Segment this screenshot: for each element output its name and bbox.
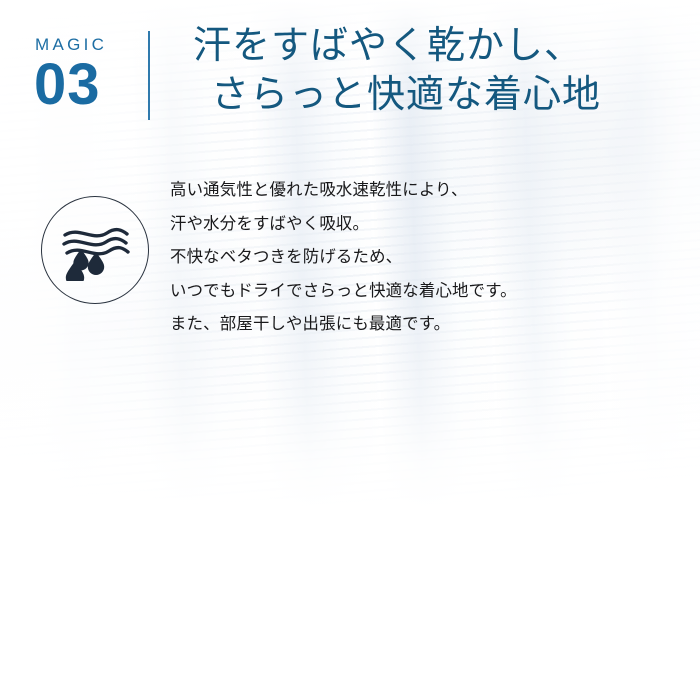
quick-dry-icon bbox=[41, 196, 149, 304]
body-03-line-4: いつでもドライでさらっと快適な着心地です。 bbox=[170, 275, 517, 309]
headline-03-line-2: さらっと快適な着心地 bbox=[193, 71, 601, 120]
body-03-line-1: 高い通気性と優れた吸水速乾性により、 bbox=[170, 174, 517, 208]
body-03-line-2: 汗や水分をすばやく吸収。 bbox=[170, 208, 517, 242]
magic-label-03: MAGIC 03 bbox=[34, 36, 150, 114]
magic-number-03: 03 bbox=[34, 55, 150, 114]
section-magic-04: MAGIC 04 安心の日本製生地 bbox=[0, 420, 700, 700]
body-text-03: 高い通気性と優れた吸水速乾性により、汗や水分をすばやく吸収。不快なベタつきを防げ… bbox=[170, 174, 517, 342]
headline-03-line-1: 汗をすばやく乾かし、 bbox=[193, 25, 583, 67]
promo-panel: MAGIC 03 汗をすばやく乾かし、さらっと快適な着心地 高い通気性と優れた吸… bbox=[0, 0, 700, 700]
headline-03: 汗をすばやく乾かし、さらっと快適な着心地 bbox=[193, 22, 601, 119]
magic-divider-03 bbox=[148, 31, 150, 120]
body-03-line-3: 不快なベタつきを防げるため、 bbox=[170, 241, 517, 275]
body-03-line-5: また、部屋干しや出張にも最適です。 bbox=[170, 308, 517, 342]
section-magic-03: MAGIC 03 汗をすばやく乾かし、さらっと快適な着心地 高い通気性と優れた吸… bbox=[0, 0, 700, 420]
magic-word-03: MAGIC bbox=[35, 36, 150, 53]
